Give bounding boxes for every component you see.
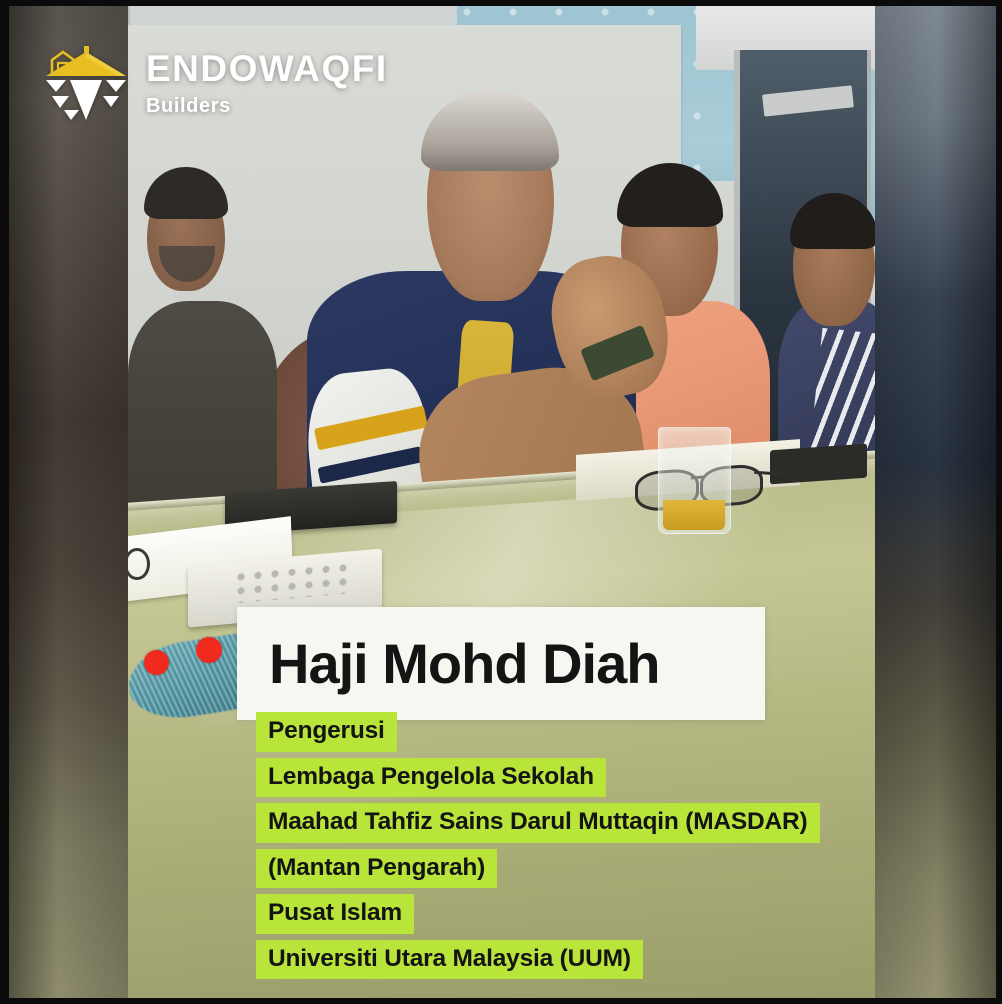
brand-name: ENDOWAQFI: [146, 50, 388, 87]
brand-wordmark: ENDOWAQFI Builders: [146, 50, 388, 116]
credential-line: Pengerusi: [256, 712, 397, 752]
cup-liquid: [663, 500, 725, 530]
blurred-backdrop-left: [0, 0, 130, 1004]
person-left-eyeglasses: [152, 215, 221, 237]
credential-line: Pusat Islam: [256, 894, 414, 934]
frame-edge-left: [0, 0, 9, 1004]
blurred-backdrop-right: [872, 0, 1002, 1004]
frame-edge-bottom: [0, 998, 1002, 1004]
brand-tagline: Builders: [146, 96, 388, 116]
social-video-still: ENDOWAQFI Builders Haji Mohd Diah Penger…: [0, 0, 1002, 1004]
speaker-name: Haji Mohd Diah: [269, 631, 659, 696]
red-annotation-dot: [196, 637, 222, 663]
speaker-name-card: Haji Mohd Diah: [237, 607, 765, 720]
red-annotation-dot: [144, 650, 169, 675]
endowaqfi-house-diamond-logo: [40, 44, 132, 122]
brand-watermark: ENDOWAQFI Builders: [40, 44, 388, 122]
frame-edge-top: [0, 0, 1002, 6]
credential-line: Lembaga Pengelola Sekolah: [256, 758, 606, 798]
credential-line: Universiti Utara Malaysia (UUM): [256, 940, 643, 980]
credential-line: Maahad Tahfiz Sains Darul Muttaqin (MASD…: [256, 803, 820, 843]
credential-line: (Mantan Pengarah): [256, 849, 497, 889]
frame-edge-right: [996, 0, 1002, 1004]
speaker-credentials: Pengerusi Lembaga Pengelola Sekolah Maah…: [256, 712, 820, 979]
